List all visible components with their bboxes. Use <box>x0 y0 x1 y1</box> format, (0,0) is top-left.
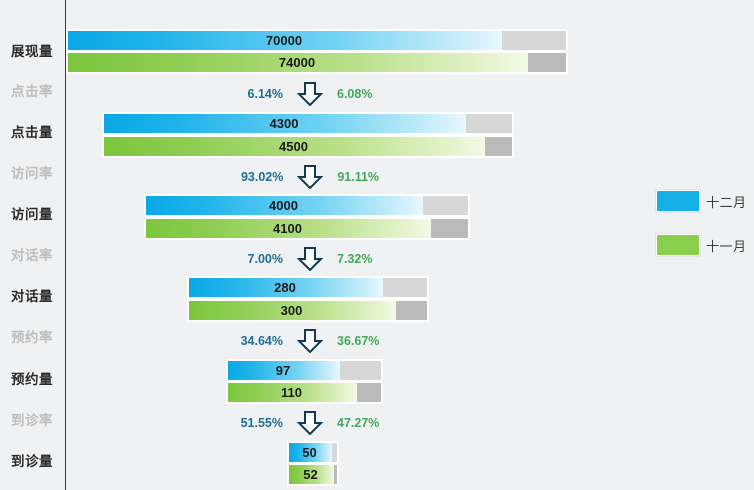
funnel-chart-area: 7000074000430045004000410028030097110505… <box>66 0 754 490</box>
bar-row-点击量-green[interactable]: 4500 <box>103 136 513 157</box>
conversion-row-对话率: 7.00%7.32% <box>200 247 420 271</box>
conversion-pct-blue: 6.14% <box>248 82 283 106</box>
bar-fill-green <box>146 219 431 238</box>
bar-track <box>188 300 428 321</box>
stage-label-5: 访问量 <box>0 208 64 222</box>
conversion-row-预约率: 34.64%36.67% <box>200 329 420 353</box>
stage-label-10: 到诊率 <box>0 414 64 428</box>
arrow-down-icon <box>297 247 323 271</box>
bar-fill-green <box>68 53 528 72</box>
conversion-pct-blue: 51.55% <box>241 411 283 435</box>
bar-track <box>188 277 428 298</box>
conversion-pct-green: 36.67% <box>337 329 379 353</box>
conversion-row-访问率: 93.02%91.11% <box>200 165 420 189</box>
bar-fill-blue <box>146 196 423 215</box>
bar-fill-green <box>189 301 396 320</box>
conversion-pct-green: 91.11% <box>337 165 379 189</box>
bar-track <box>145 218 469 239</box>
conversion-pct-green: 47.27% <box>337 411 379 435</box>
bar-fill-blue <box>289 443 332 462</box>
bar-track <box>288 464 338 485</box>
bar-row-对话量-green[interactable]: 300 <box>188 300 428 321</box>
stage-label-1: 展现量 <box>0 45 64 59</box>
bar-track <box>67 52 567 73</box>
bar-track <box>145 195 469 216</box>
bar-row-预约量-blue[interactable]: 97 <box>227 360 382 381</box>
bar-track <box>67 30 567 51</box>
bar-fill-blue <box>228 361 340 380</box>
bar-row-到诊量-green[interactable]: 52 <box>288 464 338 485</box>
legend-item-2[interactable]: 十一月 <box>656 232 752 258</box>
bar-track <box>103 113 513 134</box>
arrow-down-icon <box>297 411 323 435</box>
bar-row-预约量-green[interactable]: 110 <box>227 382 382 403</box>
stage-label-2: 点击率 <box>0 85 64 99</box>
stage-label-column: 展现量点击率点击量访问率访问量对话率对话量预约率预约量到诊率到诊量 <box>0 0 66 490</box>
bar-row-点击量-blue[interactable]: 4300 <box>103 113 513 134</box>
conversion-pct-green: 6.08% <box>337 82 372 106</box>
bar-fill-green <box>104 137 485 156</box>
funnel-chart-root: 展现量点击率点击量访问率访问量对话率对话量预约率预约量到诊率到诊量 700007… <box>0 0 754 490</box>
bar-fill-blue <box>104 114 466 133</box>
bar-fill-green <box>289 465 334 484</box>
legend-label: 十二月 <box>706 192 747 211</box>
stage-label-4: 访问率 <box>0 167 64 181</box>
legend-swatch-blue <box>656 190 700 212</box>
bar-row-访问量-green[interactable]: 4100 <box>145 218 469 239</box>
legend-swatch-green <box>656 234 700 256</box>
arrow-down-icon <box>297 165 323 189</box>
bar-track <box>103 136 513 157</box>
bar-fill-blue <box>189 278 383 297</box>
bar-row-对话量-blue[interactable]: 280 <box>188 277 428 298</box>
arrow-down-icon <box>297 329 323 353</box>
bar-row-展现量-blue[interactable]: 70000 <box>67 30 567 51</box>
stage-label-6: 对话率 <box>0 249 64 263</box>
arrow-down-icon <box>297 82 323 106</box>
conversion-pct-blue: 7.00% <box>248 247 283 271</box>
chart-legend: 十二月十一月 <box>656 188 752 276</box>
legend-label: 十一月 <box>706 236 747 255</box>
conversion-pct-blue: 93.02% <box>241 165 283 189</box>
bar-row-到诊量-blue[interactable]: 50 <box>288 442 338 463</box>
stage-label-9: 预约量 <box>0 373 64 387</box>
bar-fill-green <box>228 383 357 402</box>
bar-track <box>288 442 338 463</box>
stage-label-11: 到诊量 <box>0 455 64 469</box>
conversion-row-到诊率: 51.55%47.27% <box>200 411 420 435</box>
bar-fill-blue <box>68 31 502 50</box>
bar-track <box>227 382 382 403</box>
conversion-row-点击率: 6.14%6.08% <box>200 82 420 106</box>
stage-label-8: 预约率 <box>0 331 64 345</box>
conversion-pct-green: 7.32% <box>337 247 372 271</box>
bar-row-展现量-green[interactable]: 74000 <box>67 52 567 73</box>
legend-item-1[interactable]: 十二月 <box>656 188 752 214</box>
bar-track <box>227 360 382 381</box>
stage-label-3: 点击量 <box>0 126 64 140</box>
stage-label-7: 对话量 <box>0 290 64 304</box>
bar-row-访问量-blue[interactable]: 4000 <box>145 195 469 216</box>
conversion-pct-blue: 34.64% <box>241 329 283 353</box>
